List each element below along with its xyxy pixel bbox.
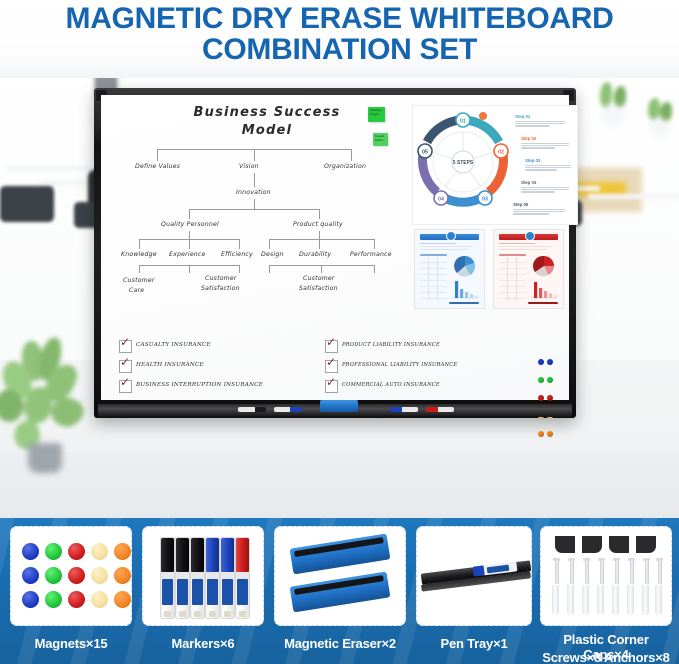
diagram-title-line-2: Model: [117, 123, 417, 138]
screw: [570, 560, 574, 584]
svg-text:03: 03: [482, 197, 488, 203]
screw: [630, 560, 634, 584]
product-magnets-card: [10, 526, 132, 626]
wall-anchor: [567, 585, 574, 615]
node-design: Design: [261, 251, 284, 258]
node-customer-sat-right-2: Satisfaction: [299, 285, 338, 292]
report-blue-badge: [446, 231, 456, 241]
tray-marker-blue-1: [274, 407, 302, 412]
corner-cap: [555, 536, 575, 553]
product-hardware-card: [540, 526, 672, 626]
checklist-label: BUSINESS INTERRUPTION INSURANCE: [136, 382, 263, 388]
board-magnet: [538, 377, 544, 383]
step-01-label: Step 01: [515, 114, 565, 119]
whiteboard: Business Success Model Define Values Vis…: [94, 88, 576, 418]
check-mark-icon: ✓: [326, 356, 336, 368]
plant-left: [0, 335, 104, 485]
checklist-label: COMMERCIAL AUTO INSURANCE: [342, 382, 440, 388]
step-02-label: Step 02: [521, 136, 569, 141]
sticky-note-1-text: Planning Insight: [368, 107, 385, 119]
wall-anchor: [582, 585, 589, 615]
screw: [600, 560, 604, 584]
board-magnet: [538, 431, 544, 437]
check-mark-icon: ✓: [326, 376, 336, 388]
node-quality-personnel: Quality Personnel: [161, 221, 219, 228]
screw: [585, 560, 589, 584]
svg-text:02: 02: [498, 150, 504, 156]
wall-anchor: [642, 585, 649, 615]
tray-eraser: [320, 400, 358, 412]
wall-anchor: [552, 585, 559, 615]
node-customer-sat-mid-2: Satisfaction: [201, 285, 240, 292]
check-mark-icon: ✓: [120, 376, 130, 388]
report-red-bar-chart: [530, 278, 558, 300]
board-magnet: [547, 377, 553, 383]
tray-marker-black: [238, 407, 266, 412]
report-blue-pie-chart: [451, 254, 479, 278]
board-magnet: [547, 359, 553, 365]
sticky-note-2-text: Growth Option: [373, 133, 388, 145]
node-customer-sat-right-1: Customer: [303, 275, 335, 282]
tray-marker-blue-2: [390, 407, 418, 412]
node-customer-care-2: Care: [129, 287, 144, 294]
node-define-values: Define Values: [135, 163, 180, 170]
corner-cap: [582, 536, 602, 553]
node-efficiency: Efficiency: [221, 251, 253, 258]
report-card-red: [493, 229, 564, 309]
report-red-table: [499, 254, 526, 302]
check-mark-icon: ✓: [326, 336, 336, 348]
headline-line-2: COMBINATION SET: [0, 35, 679, 66]
report-blue-table: [420, 254, 447, 302]
eraser-2: [290, 571, 391, 612]
node-experience: Experience: [169, 251, 206, 258]
checklist-label: HEALTH INSURANCE: [136, 362, 204, 368]
included-accessories-panel: Magnets×15: [0, 518, 679, 664]
marker-black-1: [160, 537, 175, 619]
step-04-label: Step 04: [521, 180, 569, 185]
node-innovation: Innovation: [236, 189, 271, 196]
headline-block: MAGNETIC DRY ERASE WHITEBOARD COMBINATIO…: [0, 0, 679, 78]
product-pen-tray-label: Pen Tray×1: [416, 636, 532, 651]
check-mark-icon: ✓: [120, 356, 130, 368]
corner-cap: [609, 536, 629, 553]
five-steps-infographic: 5 STEPS 01 02 03 04 05 Step 01: [412, 105, 578, 225]
step-block-03: Step 03: [525, 158, 571, 172]
node-product-quality: Product quality: [293, 221, 343, 228]
marker-red-1: [235, 537, 250, 619]
checklist-label: CASUALTY INSURANCE: [136, 342, 211, 348]
check-mark-icon: ✓: [120, 336, 130, 348]
marker-blue-2: [220, 537, 235, 619]
step-03-label: Step 03: [525, 158, 571, 163]
product-infographic-page: MAGNETIC DRY ERASE WHITEBOARD COMBINATIO…: [0, 0, 679, 664]
report-red-badge: [525, 231, 535, 241]
report-blue-bar-chart: [451, 278, 479, 300]
board-magnet: [538, 395, 544, 401]
node-durability: Durability: [299, 251, 331, 258]
corner-cap: [636, 536, 656, 553]
wheel-center-label: 5 STEPS: [453, 160, 474, 166]
step-05-label: Step 05: [513, 202, 565, 207]
product-erasers-card: [274, 526, 406, 626]
tray-marker-red: [426, 407, 454, 412]
board-magnet-grid: [537, 353, 557, 443]
five-steps-wheel: 5 STEPS 01 02 03 04 05: [415, 110, 511, 220]
node-customer-care-1: Customer: [123, 277, 155, 284]
marker-black-3: [190, 537, 205, 619]
step-block-04: Step 04: [521, 180, 569, 194]
checklist-label: PROFESSIONAL LIABILITY INSURANCE: [342, 362, 457, 368]
product-markers-card: [142, 526, 264, 626]
whiteboard-pen-tray: [98, 404, 572, 417]
svg-text:04: 04: [438, 197, 444, 203]
business-model-diagram: Business Success Model Define Values Vis…: [117, 103, 417, 328]
step-block-05: Step 05: [513, 202, 565, 216]
marker-black-2: [175, 537, 190, 619]
marker-blue-1: [205, 537, 220, 619]
screw: [658, 560, 662, 584]
node-performance: Performance: [350, 251, 392, 258]
board-magnet: [547, 431, 553, 437]
product-hardware-label-line-2: Screws×8 Anchors×8: [540, 650, 672, 664]
report-card-blue: [414, 229, 485, 309]
product-markers-label: Markers×6: [142, 636, 264, 651]
report-red-pie-chart: [530, 254, 558, 278]
wall-anchor: [655, 585, 662, 615]
node-organization: Organization: [324, 163, 366, 170]
eraser-1: [290, 533, 391, 574]
product-erasers-label: Magnetic Eraser×2: [274, 636, 406, 651]
checklist-label: PRODUCT LIABILITY INSURANCE: [342, 342, 440, 348]
step-block-02: Step 02: [521, 136, 569, 150]
node-knowledge: Knowledge: [121, 251, 157, 258]
screw: [645, 560, 649, 584]
wall-anchor: [612, 585, 619, 615]
headline-line-1: MAGNETIC DRY ERASE WHITEBOARD: [0, 4, 679, 35]
screw: [555, 560, 559, 584]
node-customer-sat-mid-1: Customer: [205, 275, 237, 282]
screw: [615, 560, 619, 584]
wall-anchor: [627, 585, 634, 615]
product-magnets-label: Magnets×15: [10, 636, 132, 651]
plant-right-2: [596, 82, 636, 130]
node-vision: Vision: [239, 163, 259, 170]
step-block-01: Step 01: [515, 114, 565, 128]
plant-right-3: [644, 98, 679, 142]
sticky-note-1: Planning Insight: [368, 107, 385, 122]
product-pen-tray-card: [416, 526, 532, 626]
whiteboard-surface: Business Success Model Define Values Vis…: [101, 95, 569, 400]
wall-anchor: [597, 585, 604, 615]
board-magnet: [547, 395, 553, 401]
svg-text:01: 01: [460, 119, 466, 125]
svg-text:05: 05: [422, 150, 428, 156]
sticky-note-2: Growth Option: [373, 133, 388, 146]
board-magnet: [538, 359, 544, 365]
